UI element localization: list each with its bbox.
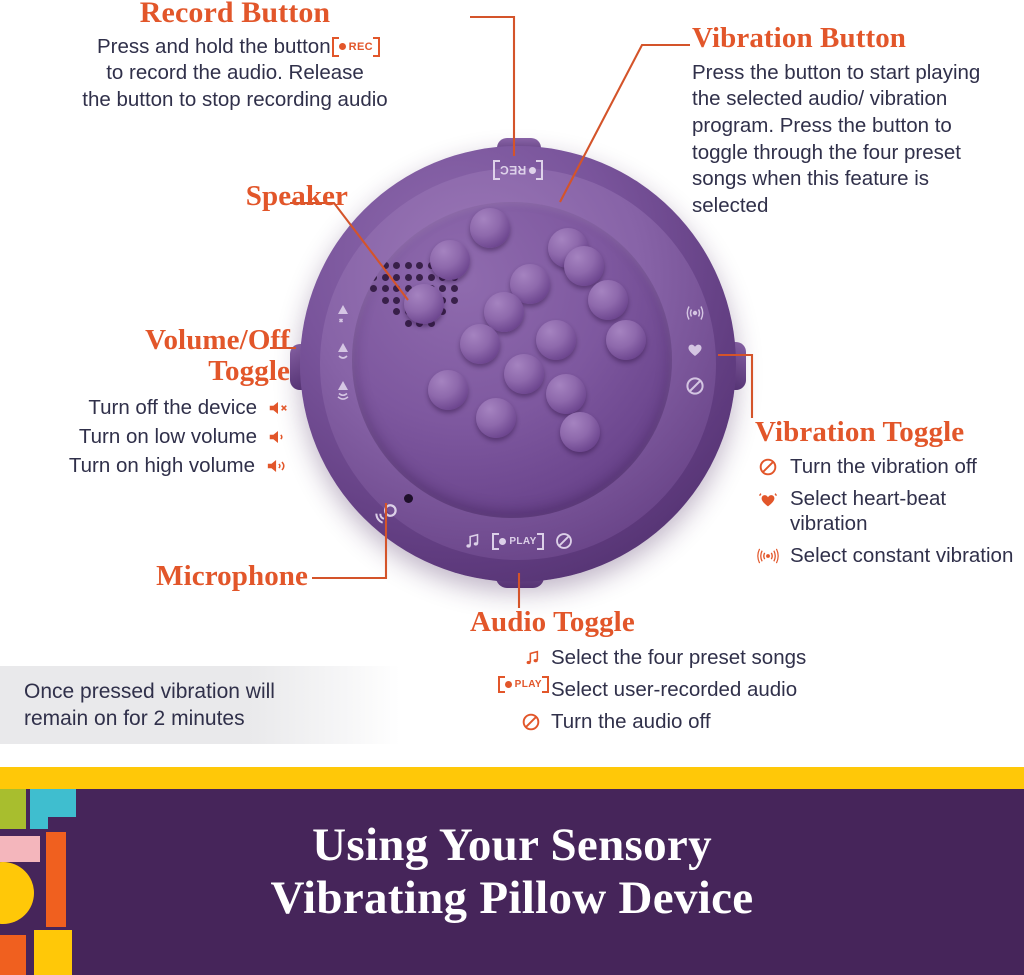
speaker-low-icon [331, 340, 355, 364]
volume-option-low: Turn on low volume [20, 425, 290, 449]
tactile-bump [428, 370, 468, 410]
speaker-hole [451, 297, 458, 304]
vibration-option-off: Turn the vibration off [755, 454, 1017, 479]
tactile-bump [588, 280, 628, 320]
banner-title-line-2: Vibrating Pillow Device [0, 872, 1024, 925]
no-entry-icon [755, 454, 781, 478]
tactile-bump [476, 398, 516, 438]
deco-pink-block [0, 836, 40, 862]
no-entry-icon [486, 709, 542, 733]
note-line-1: Once pressed vibration will [24, 678, 275, 705]
callout-vibration-button: Vibration Button Press the button to sta… [692, 24, 997, 219]
audio-option-preset-songs: Select the four preset songs [486, 645, 890, 670]
music-note-icon [461, 530, 483, 552]
audio-option-off-label: Turn the audio off [551, 709, 711, 734]
signal-waves-icon [683, 300, 707, 324]
speaker-hole [370, 262, 377, 269]
device-audio-icons: PLAY [430, 530, 606, 552]
speaker-mute-icon [331, 302, 355, 326]
vibration-toggle-title: Vibration Toggle [755, 418, 1017, 448]
tactile-bump [460, 324, 500, 364]
vibration-option-heartbeat: Select heart-beat vibration [755, 486, 1017, 536]
vibration-option-constant: Select constant vibration [755, 543, 1017, 568]
record-body-line-3: the button to stop recording audio [0, 87, 470, 114]
microphone-port [404, 494, 413, 503]
rec-chip-label: REC [349, 40, 373, 54]
audio-option-off: Turn the audio off [486, 709, 890, 734]
tactile-bump [470, 208, 510, 248]
tactile-bump [536, 320, 576, 360]
deco-teal-block-2 [48, 789, 76, 817]
speaker-hole [382, 274, 389, 281]
heart-beat-icon [755, 486, 781, 510]
callout-record-button: Record Button Press and hold the button … [0, 0, 470, 114]
note-text: Once pressed vibration will remain on fo… [0, 678, 275, 733]
audio-option-user-recorded-label: Select user-recorded audio [551, 677, 797, 702]
record-body-line-1: Press and hold the button [97, 34, 331, 61]
speaker-hole [382, 262, 389, 269]
speaker-hole [451, 285, 458, 292]
vibration-toggle-options: Turn the vibration off Select heart-beat… [755, 454, 1017, 568]
speaker-hole [405, 262, 412, 269]
speaker-hole [416, 262, 423, 269]
speaker-hole [393, 308, 400, 315]
speaker-hole [439, 285, 446, 292]
volume-toggle-title-line-2: Toggle [20, 356, 290, 387]
deco-green-block [0, 789, 26, 829]
volume-option-high: Turn on high volume [20, 454, 290, 478]
record-button-title: Record Button [0, 0, 470, 29]
yellow-divider-bar [0, 767, 1024, 789]
volume-option-high-label: Turn on high volume [69, 454, 255, 478]
tactile-bump [564, 246, 604, 286]
tactile-bump [546, 374, 586, 414]
play-chip-icon: PLAY [486, 677, 542, 690]
deco-orange-block-2 [0, 935, 26, 975]
device-rec-text: REC [500, 164, 527, 178]
speaker-hole [393, 274, 400, 281]
audio-toggle-title: Audio Toggle [470, 608, 890, 638]
no-entry-icon [683, 374, 707, 398]
callout-audio-toggle: Audio Toggle Select the four preset song… [470, 608, 890, 741]
volume-toggle-title-line-1: Volume/Off [20, 325, 290, 356]
audio-option-preset-songs-label: Select the four preset songs [551, 645, 806, 670]
device-microphone-icon-wrap [374, 498, 414, 533]
speaker-hole [405, 320, 412, 327]
sensory-pillow-device: REC [300, 146, 736, 582]
speaker-hole [416, 274, 423, 281]
callout-volume-toggle: Volume/Off Toggle Turn off the device Tu… [20, 325, 290, 483]
volume-toggle-title: Volume/Off Toggle [20, 325, 290, 388]
vibration-option-off-label: Turn the vibration off [790, 454, 977, 479]
speaker-high-icon [264, 455, 290, 477]
bottom-banner: Using Your Sensory Vibrating Pillow Devi… [0, 789, 1024, 975]
record-body-line-2: to record the audio. Release [0, 60, 470, 87]
tactile-bump [560, 412, 600, 452]
device-play-text: PLAY [509, 536, 536, 547]
record-button-body: Press and hold the button REC to record … [0, 34, 470, 114]
tactile-bump [504, 354, 544, 394]
speaker-high-icon [331, 378, 355, 402]
speaker-hole [405, 274, 412, 281]
note-line-2: remain on for 2 minutes [24, 705, 275, 732]
deco-yellow-block [34, 930, 72, 975]
infographic-canvas: REC [0, 0, 1024, 975]
tactile-bump [606, 320, 646, 360]
vibration-button-title: Vibration Button [692, 24, 997, 54]
volume-option-low-label: Turn on low volume [79, 425, 257, 449]
vibration-option-heartbeat-label: Select heart-beat vibration [790, 486, 1017, 536]
deco-teal-block-1 [30, 789, 48, 829]
rec-chip-icon: REC [339, 40, 373, 54]
speaker-title: Speaker [88, 182, 348, 212]
device-vibration-icons [678, 300, 712, 398]
speaker-mute-icon [266, 397, 290, 419]
audio-toggle-options: Select the four preset songs PLAY Select… [486, 645, 890, 734]
tactile-bump [404, 284, 444, 324]
signal-waves-icon [755, 543, 781, 567]
speaker-hole [382, 285, 389, 292]
banner-title: Using Your Sensory Vibrating Pillow Devi… [0, 819, 1024, 924]
microphone-title: Microphone [60, 562, 308, 592]
heart-beat-icon [683, 337, 707, 361]
device-volume-icons [326, 302, 360, 402]
speaker-hole [382, 297, 389, 304]
tactile-bump [430, 240, 470, 280]
speaker-hole [393, 285, 400, 292]
music-note-icon [486, 645, 542, 669]
vibration-button-body: Press the button to start playing the se… [692, 60, 997, 220]
speaker-hole [370, 285, 377, 292]
deco-orange-bar [46, 832, 66, 927]
callout-speaker: Speaker [88, 182, 348, 212]
vibration-option-constant-label: Select constant vibration [790, 543, 1013, 568]
banner-title-line-1: Using Your Sensory [0, 819, 1024, 872]
no-entry-icon [553, 530, 575, 552]
device-face [352, 202, 672, 518]
play-chip-label: PLAY [515, 679, 542, 690]
callout-vibration-toggle: Vibration Toggle Turn the vibration off [755, 418, 1017, 575]
speaker-hole [370, 274, 377, 281]
callout-microphone: Microphone [60, 562, 308, 592]
speaker-hole [428, 274, 435, 281]
vibration-duration-note: Once pressed vibration will remain on fo… [0, 666, 400, 744]
speaker-hole [393, 297, 400, 304]
audio-option-user-recorded: PLAY Select user-recorded audio [486, 677, 890, 702]
volume-toggle-options: Turn off the device Turn on low volume T… [20, 396, 290, 478]
speaker-hole [393, 262, 400, 269]
volume-option-mute-label: Turn off the device [88, 396, 257, 420]
volume-option-mute: Turn off the device [20, 396, 290, 420]
speaker-low-icon [266, 426, 290, 448]
device-rec-print: REC [448, 162, 588, 180]
